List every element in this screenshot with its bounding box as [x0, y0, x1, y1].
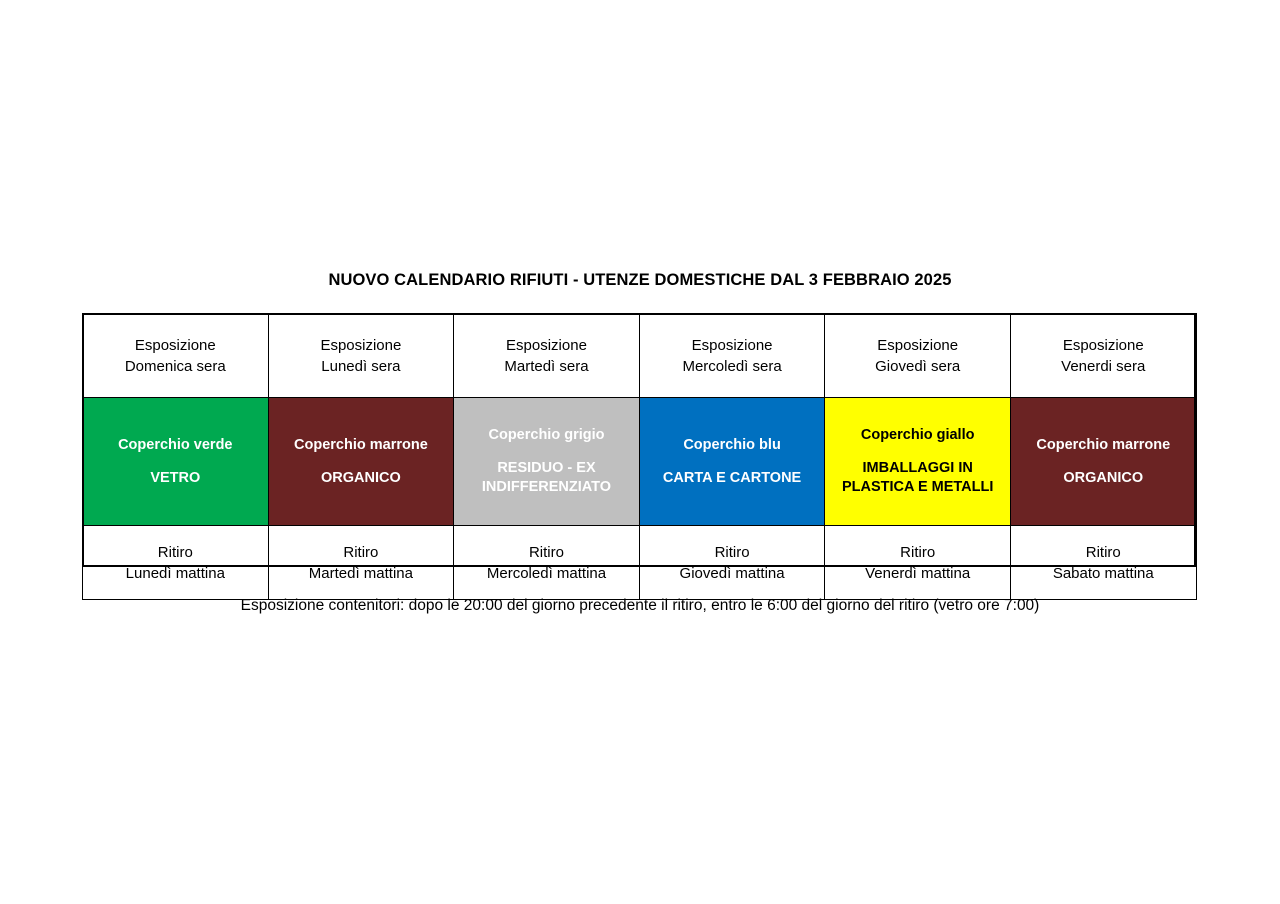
exposure-day-4: Giovedì sera: [875, 358, 960, 375]
bin-cell-green: Coperchio verde VETRO: [83, 398, 269, 526]
exposure-cell-5: Esposizione Venerdi sera: [1010, 314, 1196, 398]
exposure-label-5: Esposizione: [1063, 337, 1144, 354]
exposure-cell-0: Esposizione Domenica sera: [83, 314, 269, 398]
bin-cell-maroon-2: Coperchio marrone ORGANICO: [1010, 398, 1196, 526]
bin-lid-label-4: Coperchio giallo: [829, 426, 1006, 445]
bin-lid-label-0: Coperchio verde: [87, 436, 264, 455]
collection-day-2: Mercoledì mattina: [487, 565, 606, 582]
exposure-day-2: Martedì sera: [504, 358, 588, 375]
table-row-collection: Ritiro Lunedì mattina Ritiro Martedì mat…: [83, 526, 1197, 600]
bin-type-label-1: ORGANICO: [273, 469, 450, 488]
collection-label-4: Ritiro: [900, 544, 935, 561]
exposure-label-4: Esposizione: [877, 337, 958, 354]
collection-label-5: Ritiro: [1086, 544, 1121, 561]
bin-cell-blue: Coperchio blu CARTA E CARTONE: [639, 398, 825, 526]
exposure-day-5: Venerdi sera: [1061, 358, 1145, 375]
collection-label-1: Ritiro: [343, 544, 378, 561]
bin-cell-grey: Coperchio grigio RESIDUO - EX INDIFFEREN…: [454, 398, 640, 526]
collection-label-3: Ritiro: [715, 544, 750, 561]
bin-type-label-4: IMBALLAGGI IN PLASTICA E METALLI: [829, 459, 1006, 497]
collection-cell-0: Ritiro Lunedì mattina: [83, 526, 269, 600]
exposure-instructions-note: Esposizione contenitori: dopo le 20:00 d…: [0, 597, 1280, 615]
collection-day-1: Martedì mattina: [309, 565, 413, 582]
waste-calendar-page: NUOVO CALENDARIO RIFIUTI - UTENZE DOMEST…: [0, 0, 1280, 904]
collection-label-0: Ritiro: [158, 544, 193, 561]
bin-lid-label-1: Coperchio marrone: [273, 436, 450, 455]
bin-type-label-5: ORGANICO: [1015, 469, 1192, 488]
exposure-day-0: Domenica sera: [125, 358, 226, 375]
collection-cell-1: Ritiro Martedì mattina: [268, 526, 454, 600]
bin-lid-label-2: Coperchio grigio: [458, 426, 635, 445]
exposure-cell-3: Esposizione Mercoledì sera: [639, 314, 825, 398]
collection-day-5: Sabato mattina: [1053, 565, 1154, 582]
collection-day-0: Lunedì mattina: [126, 565, 225, 582]
bin-cell-maroon-1: Coperchio marrone ORGANICO: [268, 398, 454, 526]
collection-cell-3: Ritiro Giovedì mattina: [639, 526, 825, 600]
exposure-cell-4: Esposizione Giovedì sera: [825, 314, 1011, 398]
bin-cell-yellow: Coperchio giallo IMBALLAGGI IN PLASTICA …: [825, 398, 1011, 526]
bin-type-label-0: VETRO: [87, 469, 264, 488]
exposure-day-3: Mercoledì sera: [682, 358, 781, 375]
exposure-label-2: Esposizione: [506, 337, 587, 354]
collection-label-2: Ritiro: [529, 544, 564, 561]
bin-lid-label-5: Coperchio marrone: [1015, 436, 1192, 455]
exposure-cell-2: Esposizione Martedì sera: [454, 314, 640, 398]
page-title: NUOVO CALENDARIO RIFIUTI - UTENZE DOMEST…: [0, 271, 1280, 290]
exposure-label-3: Esposizione: [692, 337, 773, 354]
bin-type-label-3: CARTA E CARTONE: [644, 469, 821, 488]
table-row-bin-type: Coperchio verde VETRO Coperchio marrone …: [83, 398, 1197, 526]
exposure-cell-1: Esposizione Lunedì sera: [268, 314, 454, 398]
collection-day-4: Venerdì mattina: [865, 565, 970, 582]
table-row-exposure: Esposizione Domenica sera Esposizione Lu…: [83, 314, 1197, 398]
bin-lid-label-3: Coperchio blu: [644, 436, 821, 455]
exposure-day-1: Lunedì sera: [321, 358, 400, 375]
waste-collection-calendar-table: Esposizione Domenica sera Esposizione Lu…: [82, 313, 1197, 600]
bin-type-label-2: RESIDUO - EX INDIFFERENZIATO: [458, 459, 635, 497]
collection-cell-2: Ritiro Mercoledì mattina: [454, 526, 640, 600]
collection-cell-5: Ritiro Sabato mattina: [1010, 526, 1196, 600]
collection-cell-4: Ritiro Venerdì mattina: [825, 526, 1011, 600]
collection-day-3: Giovedì mattina: [680, 565, 785, 582]
exposure-label-0: Esposizione: [135, 337, 216, 354]
exposure-label-1: Esposizione: [320, 337, 401, 354]
